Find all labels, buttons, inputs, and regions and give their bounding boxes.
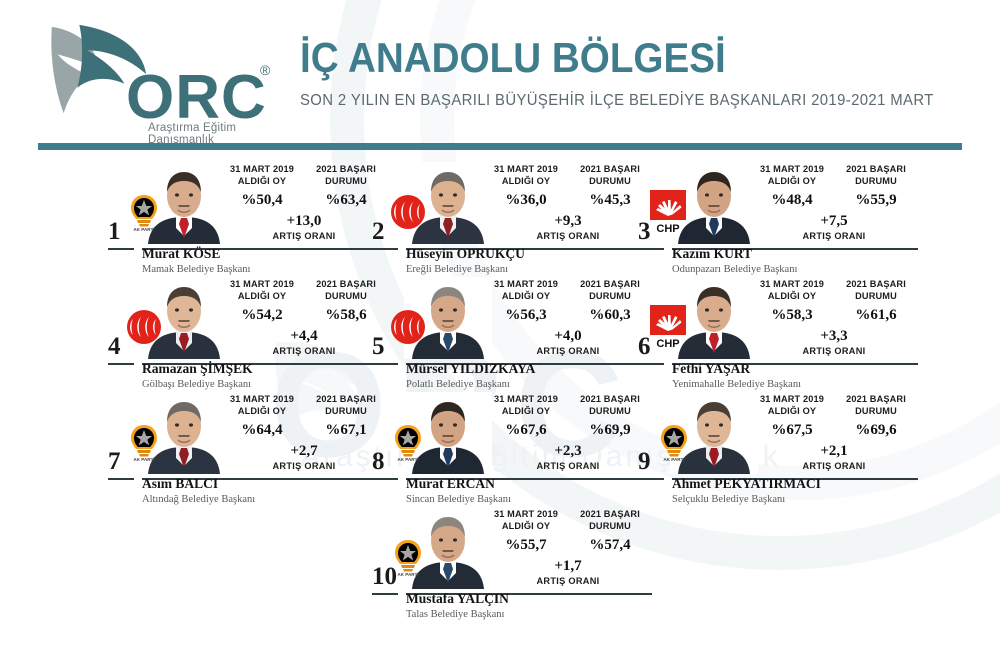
vote-stats: 31 MART 2019 ALDIĞI OY 2021 BAŞARI DURUM… bbox=[750, 164, 918, 241]
curr-vote-value: %55,9 bbox=[834, 192, 918, 209]
prev-header-line1: 31 MART 2019 bbox=[760, 279, 824, 289]
prev-header-line2: ALDIĞI OY bbox=[768, 291, 816, 301]
delta-value: +2,7 bbox=[220, 443, 388, 460]
rank-underline bbox=[372, 478, 398, 480]
party-logo-akp: AK PARTİ bbox=[654, 422, 694, 462]
delta-label: ARTIŞ ORANI bbox=[750, 461, 918, 471]
mayor-role: Mamak Belediye Başkanı bbox=[142, 263, 392, 276]
prev-header-line2: ALDIĞI OY bbox=[238, 406, 286, 416]
prev-column-header: 31 MART 2019 ALDIĞI OY bbox=[220, 394, 304, 418]
rank-underline bbox=[372, 593, 398, 595]
svg-text:CHP: CHP bbox=[656, 338, 679, 350]
delta-value: +2,1 bbox=[750, 443, 918, 460]
rank-underline bbox=[638, 363, 664, 365]
delta-label: ARTIŞ ORANI bbox=[220, 461, 388, 471]
party-logo-akp: AK PARTİ bbox=[388, 537, 428, 577]
curr-column-header: 2021 BAŞARI DURUMU bbox=[568, 509, 652, 533]
registered-mark: ® bbox=[260, 62, 270, 78]
mhp-logo-icon bbox=[388, 307, 428, 347]
prev-vote-value: %55,7 bbox=[484, 537, 568, 554]
mayor-identity: Mustafa YALÇIN Talas Belediye Başkanı bbox=[406, 591, 656, 621]
rank-number: 5 bbox=[372, 334, 385, 359]
vote-stats: 31 MART 2019 ALDIĞI OY 2021 BAŞARI DURUM… bbox=[750, 279, 918, 356]
chp-logo-icon: CHP bbox=[648, 303, 696, 351]
delta-value: +1,7 bbox=[484, 558, 652, 575]
delta-value: +4,4 bbox=[220, 328, 388, 345]
mayor-card[interactable]: 3 CHP bbox=[638, 162, 918, 274]
svg-text:AK PARTİ: AK PARTİ bbox=[397, 456, 418, 462]
prev-header-line2: ALDIĞI OY bbox=[502, 291, 550, 301]
svg-text:CHP: CHP bbox=[656, 223, 679, 235]
mayor-identity: Mürsel YILDIZKAYA Polatlı Belediye Başka… bbox=[406, 361, 656, 391]
mayor-identity: Murat KÖSE Mamak Belediye Başkanı bbox=[142, 246, 392, 276]
curr-header-line1: 2021 BAŞARI bbox=[316, 394, 376, 404]
rank-underline bbox=[638, 248, 664, 250]
mayor-name: Murat KÖSE bbox=[142, 246, 392, 262]
curr-vote-value: %57,4 bbox=[568, 537, 652, 554]
prev-header-line1: 31 MART 2019 bbox=[494, 509, 558, 519]
prev-header-line1: 31 MART 2019 bbox=[230, 164, 294, 174]
prev-vote-value: %54,2 bbox=[220, 307, 304, 324]
vote-stats: 31 MART 2019 ALDIĞI OY 2021 BAŞARI DURUM… bbox=[484, 279, 652, 356]
mhp-logo-icon bbox=[388, 192, 428, 232]
curr-header-line2: DURUMU bbox=[589, 406, 631, 416]
mayor-name: Asım BALCI bbox=[142, 476, 392, 492]
mayor-role: Talas Belediye Başkanı bbox=[406, 608, 656, 621]
party-logo-akp: AK PARTİ bbox=[388, 422, 428, 462]
akp-logo-icon: AK PARTİ bbox=[654, 422, 694, 462]
mayor-identity: Ahmet PEKYATIRMACI Selçuklu Belediye Baş… bbox=[672, 476, 922, 506]
curr-header-line1: 2021 BAŞARI bbox=[316, 279, 376, 289]
mayor-card[interactable]: 10 AK PARTİ 31 bbox=[372, 507, 652, 619]
mayor-card[interactable]: 5 31 MART 2019 ALDIĞI OY bbox=[372, 277, 652, 389]
rank-underline bbox=[108, 478, 134, 480]
curr-header-line2: DURUMU bbox=[589, 521, 631, 531]
curr-header-line1: 2021 BAŞARI bbox=[580, 509, 640, 519]
title-block: İÇ ANADOLU BÖLGESİ SON 2 YILIN EN BAŞARI… bbox=[300, 36, 960, 110]
party-logo-mhp bbox=[388, 192, 428, 232]
svg-text:AK PARTİ: AK PARTİ bbox=[397, 571, 418, 577]
party-logo-mhp bbox=[124, 307, 164, 347]
mayor-role: Ereğli Belediye Başkanı bbox=[406, 263, 656, 276]
mayor-name: Mürsel YILDIZKAYA bbox=[406, 361, 656, 377]
prev-column-header: 31 MART 2019 ALDIĞI OY bbox=[484, 509, 568, 533]
curr-header-line2: DURUMU bbox=[589, 291, 631, 301]
party-logo-chp: CHP bbox=[648, 303, 696, 351]
delta-label: ARTIŞ ORANI bbox=[484, 231, 652, 241]
prev-vote-value: %36,0 bbox=[484, 192, 568, 209]
page-header: ORC ® Araştırma Eğitim Danışmanlık İÇ AN… bbox=[0, 0, 1000, 150]
prev-column-header: 31 MART 2019 ALDIĞI OY bbox=[484, 164, 568, 188]
curr-header-line1: 2021 BAŞARI bbox=[846, 164, 906, 174]
curr-column-header: 2021 BAŞARI DURUMU bbox=[834, 394, 918, 418]
mayor-name: Kazım KURT bbox=[672, 246, 922, 262]
delta-label: ARTIŞ ORANI bbox=[484, 461, 652, 471]
card-row: 4 31 MART 2019 ALDIĞI OY bbox=[0, 277, 1000, 392]
mayor-role: Sincan Belediye Başkanı bbox=[406, 493, 656, 506]
mayor-name: Hüseyin OPRUKÇU bbox=[406, 246, 656, 262]
delta-label: ARTIŞ ORANI bbox=[220, 231, 388, 241]
page-title: İÇ ANADOLU BÖLGESİ bbox=[300, 36, 907, 80]
card-row: 1 AK PARTİ 31 M bbox=[0, 162, 1000, 277]
prev-header-line2: ALDIĞI OY bbox=[768, 176, 816, 186]
rank-number: 4 bbox=[108, 334, 121, 359]
prev-header-line1: 31 MART 2019 bbox=[760, 164, 824, 174]
akp-logo-icon: AK PARTİ bbox=[388, 422, 428, 462]
akp-logo-icon: AK PARTİ bbox=[124, 192, 164, 232]
mhp-logo-icon bbox=[124, 307, 164, 347]
mayor-card-grid: 1 AK PARTİ 31 M bbox=[0, 162, 1000, 622]
chp-logo-icon: CHP bbox=[648, 188, 696, 236]
prev-vote-value: %50,4 bbox=[220, 192, 304, 209]
delta-label: ARTIŞ ORANI bbox=[750, 346, 918, 356]
prev-vote-value: %67,5 bbox=[750, 422, 834, 439]
mayor-identity: Kazım KURT Odunpazarı Belediye Başkanı bbox=[672, 246, 922, 276]
delta-value: +9,3 bbox=[484, 213, 652, 230]
prev-header-line1: 31 MART 2019 bbox=[760, 394, 824, 404]
curr-header-line1: 2021 BAŞARI bbox=[316, 164, 376, 174]
mayor-name: Ahmet PEKYATIRMACI bbox=[672, 476, 922, 492]
prev-vote-value: %67,6 bbox=[484, 422, 568, 439]
delta-value: +4,0 bbox=[484, 328, 652, 345]
prev-column-header: 31 MART 2019 ALDIĞI OY bbox=[484, 394, 568, 418]
prev-header-line1: 31 MART 2019 bbox=[494, 394, 558, 404]
rank-underline bbox=[108, 363, 134, 365]
party-logo-chp: CHP bbox=[648, 188, 696, 236]
prev-vote-value: %58,3 bbox=[750, 307, 834, 324]
delta-value: +2,3 bbox=[484, 443, 652, 460]
curr-header-line2: DURUMU bbox=[325, 176, 367, 186]
vote-stats: 31 MART 2019 ALDIĞI OY 2021 BAŞARI DURUM… bbox=[484, 164, 652, 241]
mayor-role: Polatlı Belediye Başkanı bbox=[406, 378, 656, 391]
curr-column-header: 2021 BAŞARI DURUMU bbox=[834, 164, 918, 188]
delta-label: ARTIŞ ORANI bbox=[484, 576, 652, 586]
card-row: 7 AK PARTİ 31 M bbox=[0, 392, 1000, 507]
delta-label: ARTIŞ ORANI bbox=[750, 231, 918, 241]
prev-column-header: 31 MART 2019 ALDIĞI OY bbox=[220, 164, 304, 188]
header-divider bbox=[38, 143, 962, 150]
rank-number: 7 bbox=[108, 449, 121, 474]
svg-text:AK PARTİ: AK PARTİ bbox=[133, 456, 154, 462]
akp-logo-icon: AK PARTİ bbox=[124, 422, 164, 462]
mayor-name: Fethi YAŞAR bbox=[672, 361, 922, 377]
delta-label: ARTIŞ ORANI bbox=[484, 346, 652, 356]
mayor-role: Altındağ Belediye Başkanı bbox=[142, 493, 392, 506]
svg-text:AK PARTİ: AK PARTİ bbox=[663, 456, 684, 462]
curr-header-line2: DURUMU bbox=[325, 291, 367, 301]
mayor-identity: Murat ERCAN Sincan Belediye Başkanı bbox=[406, 476, 656, 506]
prev-column-header: 31 MART 2019 ALDIĞI OY bbox=[220, 279, 304, 303]
prev-header-line1: 31 MART 2019 bbox=[230, 394, 294, 404]
mayor-role: Yenimahalle Belediye Başkanı bbox=[672, 378, 922, 391]
prev-header-line2: ALDIĞI OY bbox=[238, 176, 286, 186]
rank-underline bbox=[638, 478, 664, 480]
curr-header-line2: DURUMU bbox=[855, 406, 897, 416]
prev-header-line2: ALDIĞI OY bbox=[238, 291, 286, 301]
curr-header-line1: 2021 BAŞARI bbox=[580, 279, 640, 289]
mayor-role: Gölbaşı Belediye Başkanı bbox=[142, 378, 392, 391]
prev-header-line2: ALDIĞI OY bbox=[502, 176, 550, 186]
delta-value: +3,3 bbox=[750, 328, 918, 345]
rank-underline bbox=[372, 248, 398, 250]
prev-column-header: 31 MART 2019 ALDIĞI OY bbox=[750, 279, 834, 303]
curr-header-line2: DURUMU bbox=[589, 176, 631, 186]
card-row: 10 AK PARTİ 31 bbox=[0, 507, 1000, 622]
vote-stats: 31 MART 2019 ALDIĞI OY 2021 BAŞARI DURUM… bbox=[484, 509, 652, 586]
rank-number: 2 bbox=[372, 219, 385, 244]
curr-header-line1: 2021 BAŞARI bbox=[580, 394, 640, 404]
prev-header-line2: ALDIĞI OY bbox=[502, 406, 550, 416]
curr-header-line1: 2021 BAŞARI bbox=[846, 394, 906, 404]
rank-underline bbox=[372, 363, 398, 365]
prev-column-header: 31 MART 2019 ALDIĞI OY bbox=[484, 279, 568, 303]
prev-header-line1: 31 MART 2019 bbox=[494, 279, 558, 289]
curr-header-line1: 2021 BAŞARI bbox=[846, 279, 906, 289]
prev-header-line1: 31 MART 2019 bbox=[230, 279, 294, 289]
delta-label: ARTIŞ ORANI bbox=[220, 346, 388, 356]
rank-number: 9 bbox=[638, 449, 651, 474]
curr-header-line2: DURUMU bbox=[325, 406, 367, 416]
curr-header-line2: DURUMU bbox=[855, 176, 897, 186]
mayor-card[interactable]: 1 AK PARTİ 31 M bbox=[108, 162, 388, 274]
mayor-identity: Hüseyin OPRUKÇU Ereğli Belediye Başkanı bbox=[406, 246, 656, 276]
mayor-name: Mustafa YALÇIN bbox=[406, 591, 656, 607]
mayor-name: Ramazan ŞİMŞEK bbox=[142, 361, 392, 377]
mayor-identity: Fethi YAŞAR Yenimahalle Belediye Başkanı bbox=[672, 361, 922, 391]
mayor-role: Selçuklu Belediye Başkanı bbox=[672, 493, 922, 506]
rank-number: 8 bbox=[372, 449, 385, 474]
akp-logo-icon: AK PARTİ bbox=[388, 537, 428, 577]
curr-column-header: 2021 BAŞARI DURUMU bbox=[834, 279, 918, 303]
prev-header-line2: ALDIĞI OY bbox=[502, 521, 550, 531]
mayor-name: Murat ERCAN bbox=[406, 476, 656, 492]
delta-value: +13,0 bbox=[220, 213, 388, 230]
party-logo-akp: AK PARTİ bbox=[124, 192, 164, 232]
prev-column-header: 31 MART 2019 ALDIĞI OY bbox=[750, 164, 834, 188]
prev-vote-value: %56,3 bbox=[484, 307, 568, 324]
page-subtitle: SON 2 YILIN EN BAŞARILI BÜYÜŞEHİR İLÇE B… bbox=[300, 92, 934, 110]
prev-header-line2: ALDIĞI OY bbox=[768, 406, 816, 416]
prev-vote-value: %48,4 bbox=[750, 192, 834, 209]
mayor-card[interactable]: 4 31 MART 2019 ALDIĞI OY bbox=[108, 277, 388, 389]
mayor-card[interactable]: 8 AK PARTİ 31 M bbox=[372, 392, 652, 504]
mayor-card[interactable]: 6 CHP bbox=[638, 277, 918, 389]
vote-stats: 31 MART 2019 ALDIĞI OY 2021 BAŞARI DURUM… bbox=[220, 394, 388, 471]
mayor-card[interactable]: 9 AK PARTİ 31 M bbox=[638, 392, 918, 504]
prev-header-line1: 31 MART 2019 bbox=[494, 164, 558, 174]
rank-number: 1 bbox=[108, 219, 121, 244]
rank-underline bbox=[108, 248, 134, 250]
mayor-identity: Ramazan ŞİMŞEK Gölbaşı Belediye Başkanı bbox=[142, 361, 392, 391]
party-logo-mhp bbox=[388, 307, 428, 347]
curr-header-line1: 2021 BAŞARI bbox=[580, 164, 640, 174]
mayor-card[interactable]: 7 AK PARTİ 31 M bbox=[108, 392, 388, 504]
delta-value: +7,5 bbox=[750, 213, 918, 230]
prev-column-header: 31 MART 2019 ALDIĞI OY bbox=[750, 394, 834, 418]
orc-logo: ORC ® Araştırma Eğitim Danışmanlık bbox=[44, 22, 284, 132]
vote-stats: 31 MART 2019 ALDIĞI OY 2021 BAŞARI DURUM… bbox=[220, 164, 388, 241]
vote-stats: 31 MART 2019 ALDIĞI OY 2021 BAŞARI DURUM… bbox=[750, 394, 918, 471]
party-logo-akp: AK PARTİ bbox=[124, 422, 164, 462]
prev-vote-value: %64,4 bbox=[220, 422, 304, 439]
mayor-card[interactable]: 2 31 MART 2019 ALDIĞI OY bbox=[372, 162, 652, 274]
vote-stats: 31 MART 2019 ALDIĞI OY 2021 BAŞARI DURUM… bbox=[220, 279, 388, 356]
curr-header-line2: DURUMU bbox=[855, 291, 897, 301]
curr-vote-value: %69,6 bbox=[834, 422, 918, 439]
mayor-role: Odunpazarı Belediye Başkanı bbox=[672, 263, 922, 276]
infographic-page: ORC Araştırma Eğitim Danışmanlık ORC ® A… bbox=[0, 0, 1000, 653]
mayor-identity: Asım BALCI Altındağ Belediye Başkanı bbox=[142, 476, 392, 506]
curr-vote-value: %61,6 bbox=[834, 307, 918, 324]
svg-text:AK PARTİ: AK PARTİ bbox=[133, 226, 154, 232]
vote-stats: 31 MART 2019 ALDIĞI OY 2021 BAŞARI DURUM… bbox=[484, 394, 652, 471]
